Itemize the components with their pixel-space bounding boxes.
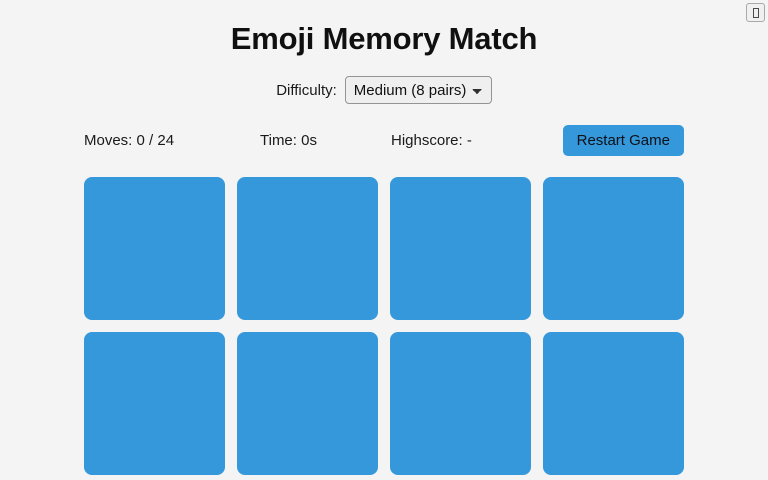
memory-card[interactable] bbox=[84, 332, 225, 475]
restart-game-button[interactable]: Restart Game bbox=[563, 125, 684, 156]
page-title: Emoji Memory Match bbox=[0, 0, 768, 60]
theme-toggle-button[interactable] bbox=[746, 3, 765, 22]
memory-card[interactable] bbox=[237, 332, 378, 475]
timer: Time: 0s bbox=[260, 132, 391, 149]
moves-counter: Moves: 0 / 24 bbox=[84, 132, 260, 149]
theme-toggle-icon bbox=[753, 8, 759, 18]
memory-card[interactable] bbox=[543, 177, 684, 320]
memory-card[interactable] bbox=[543, 332, 684, 475]
memory-card[interactable] bbox=[84, 177, 225, 320]
highscore: Highscore: - bbox=[391, 132, 563, 149]
difficulty-row: Difficulty: Medium (8 pairs) bbox=[0, 76, 768, 104]
memory-card[interactable] bbox=[390, 332, 531, 475]
card-grid bbox=[84, 177, 684, 475]
difficulty-label: Difficulty: bbox=[276, 82, 337, 99]
memory-card[interactable] bbox=[390, 177, 531, 320]
stats-row: Moves: 0 / 24 Time: 0s Highscore: - Rest… bbox=[0, 124, 768, 156]
memory-card[interactable] bbox=[237, 177, 378, 320]
difficulty-select[interactable]: Medium (8 pairs) bbox=[345, 76, 492, 104]
